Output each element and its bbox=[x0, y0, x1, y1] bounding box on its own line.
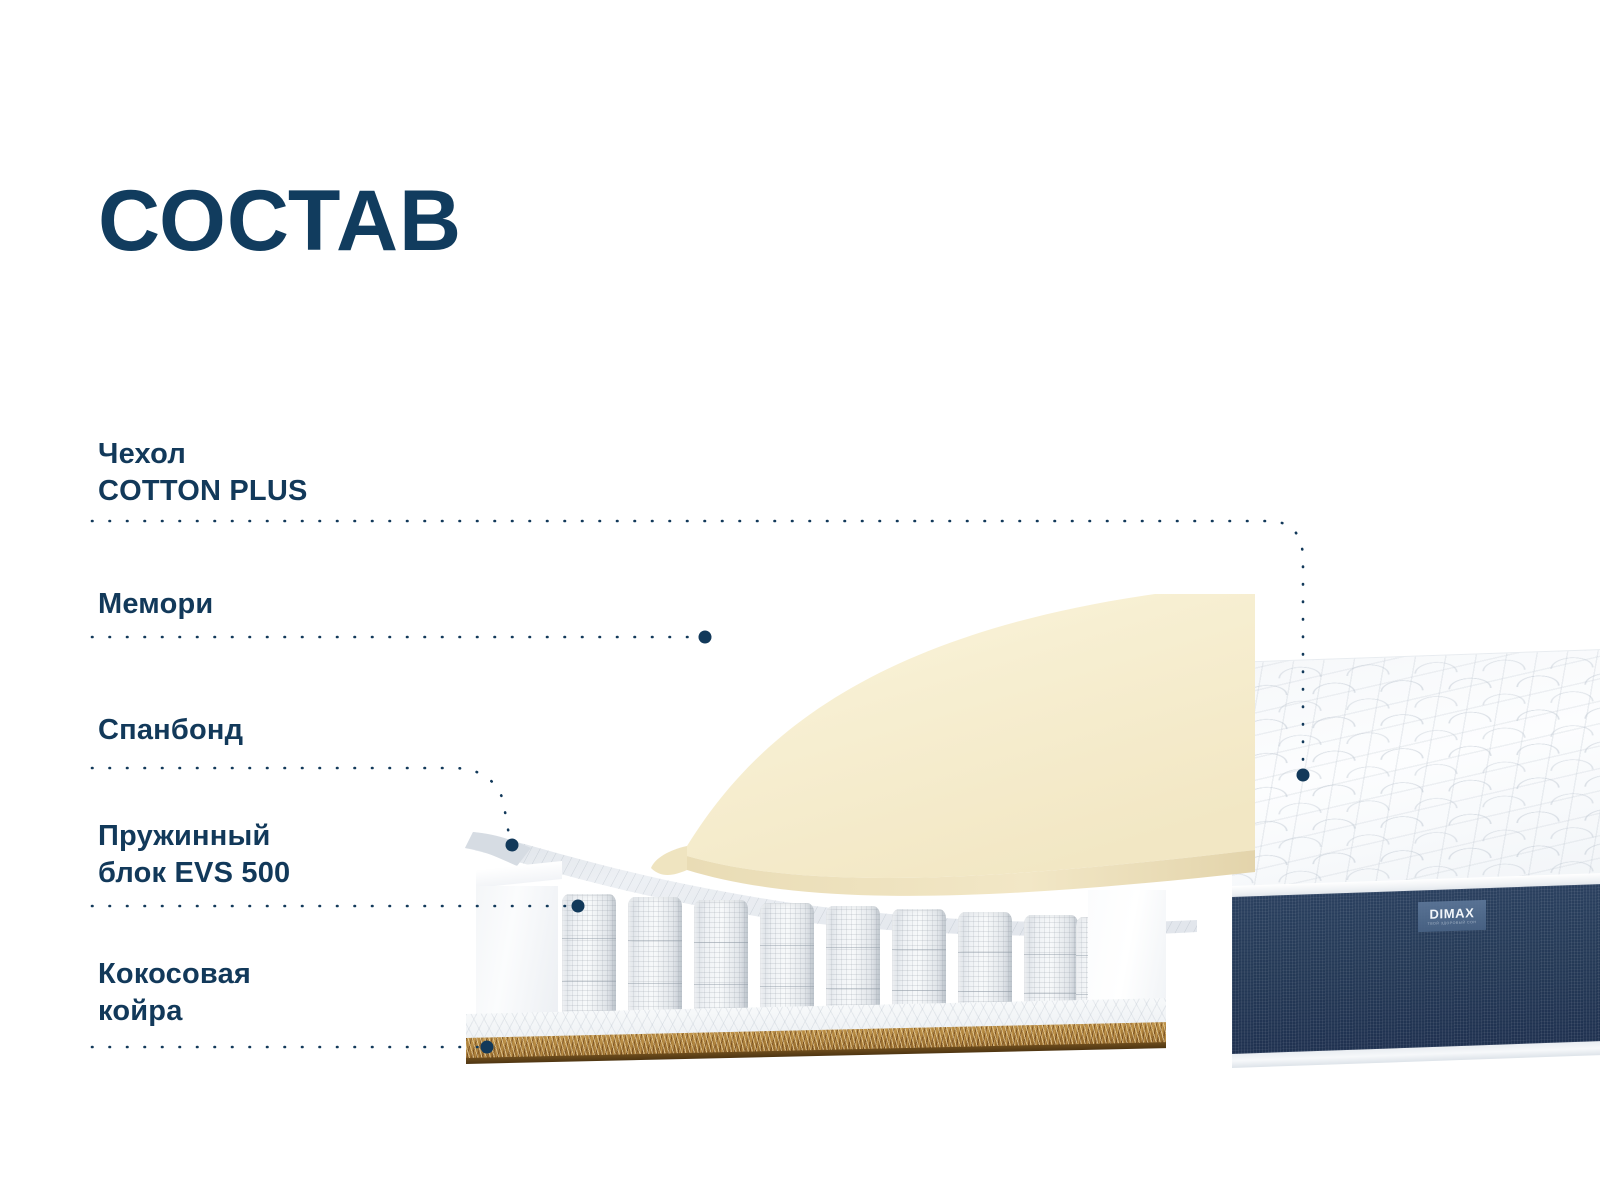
dimax-logo-badge: DIMAX ТВОЙ ЗДОРОВЫЙ СОН bbox=[1418, 900, 1486, 932]
composition-infographic: СОСТАВ DIMAX ТВОЙ ЗДОРОВЫЙ СОН bbox=[0, 0, 1600, 1201]
layer-label-memory: Мемори bbox=[98, 586, 213, 623]
pocket-spring bbox=[628, 897, 682, 1027]
dimax-logo-tagline: ТВОЙ ЗДОРОВЫЙ СОН bbox=[1428, 921, 1477, 926]
dimax-logo-text: DIMAX bbox=[1430, 906, 1475, 921]
quilt-scallop-pattern-offset bbox=[1232, 650, 1600, 894]
layer-label-spring-block: Пружинный блок EVS 500 bbox=[98, 818, 290, 892]
layer-label-coconut-coir: Кокосовая койра bbox=[98, 956, 251, 1030]
pocket-spring bbox=[562, 894, 616, 1026]
mattress-side-panel bbox=[1232, 884, 1600, 1057]
layer-label-spunbond: Спанбонд bbox=[98, 712, 243, 749]
quilted-cover-top-surface bbox=[1232, 649, 1600, 894]
layer-label-cover: Чехол COTTON PLUS bbox=[98, 436, 308, 510]
foam-border-left bbox=[476, 886, 558, 1024]
